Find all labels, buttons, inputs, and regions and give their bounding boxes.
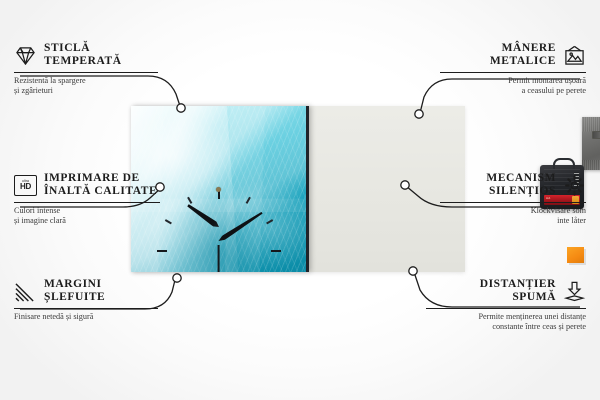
callout-description: Culori intense și imagine clară bbox=[14, 206, 166, 226]
callout-title: MECANISM SILENȚIOS bbox=[486, 172, 556, 198]
diamond-icon bbox=[14, 45, 37, 66]
picture-frame-icon bbox=[563, 45, 586, 66]
callout-polished-edges[interactable]: MARGINI ȘLEFUITE Finisare netedă și sigu… bbox=[14, 278, 164, 322]
callout-title: MÂNERE METALICE bbox=[490, 42, 556, 68]
callout-rule bbox=[14, 308, 158, 309]
callout-title: IMPRIMARE DE ÎNALTĂ CALITATE bbox=[44, 172, 157, 198]
callout-description: Permit montarea ușoară a ceasului pe per… bbox=[434, 76, 586, 96]
ultra-hd-icon: ultra HD bbox=[14, 175, 37, 196]
callout-rule bbox=[440, 202, 586, 203]
callout-rule bbox=[14, 72, 158, 73]
callout-title: STICLĂ TEMPERATĂ bbox=[44, 42, 122, 68]
callout-title: MARGINI ȘLEFUITE bbox=[44, 278, 105, 304]
callout-rule bbox=[426, 308, 586, 309]
gear-icon bbox=[563, 175, 586, 196]
callout-tempered-glass[interactable]: STICLĂ TEMPERATĂ Rezistentă la spargere … bbox=[14, 42, 164, 96]
callout-high-quality-print[interactable]: ultra HD IMPRIMARE DE ÎNALTĂ CALITATE Cu… bbox=[14, 172, 166, 226]
hd-label: HD bbox=[20, 183, 31, 191]
beveled-edge-icon bbox=[14, 281, 37, 302]
callout-metal-handles[interactable]: MÂNERE METALICE Permit montarea ușoară a… bbox=[434, 42, 586, 96]
callout-rule bbox=[14, 202, 160, 203]
callout-title: DISTANȚIER SPUMĂ bbox=[480, 278, 556, 304]
callout-foam-spacer[interactable]: DISTANȚIER SPUMĂ Permite menținerea unei… bbox=[420, 278, 586, 332]
callout-description: Rezistentă la spargere și zgârieturi bbox=[14, 76, 164, 96]
callout-description: Finisare netedă și sigură bbox=[14, 312, 164, 322]
callout-silent-mechanism[interactable]: MECANISM SILENȚIOS Klockvisare som inte … bbox=[434, 172, 586, 226]
callout-rule bbox=[440, 72, 586, 73]
infographic-canvas: AA bbox=[0, 0, 600, 400]
callout-description: Permite menținerea unei distanțe constan… bbox=[420, 312, 586, 332]
callout-description: Klockvisare som inte låter bbox=[434, 206, 586, 226]
arrow-onto-pad-icon bbox=[563, 281, 586, 302]
